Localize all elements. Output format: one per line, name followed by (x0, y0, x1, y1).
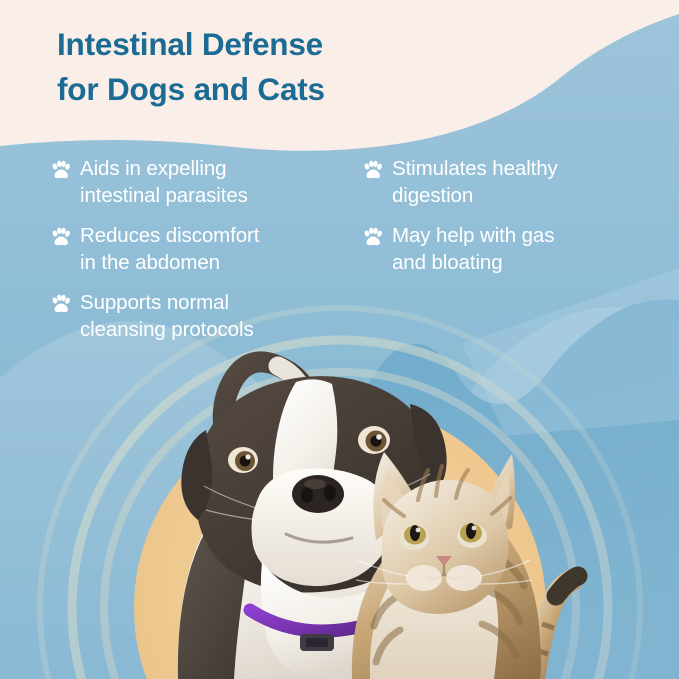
benefit-item: May help with gas and bloating (362, 222, 662, 276)
benefit-text: Stimulates healthy digestion (392, 155, 558, 209)
page-title: Intestinal Defense for Dogs and Cats (57, 22, 477, 111)
benefit-text: May help with gas and bloating (392, 222, 554, 276)
benefit-line: Stimulates healthy (392, 155, 558, 182)
paw-print-icon (50, 226, 72, 248)
benefit-item: Stimulates healthy digestion (362, 155, 662, 209)
collar-buckle-inner (306, 638, 328, 647)
cat-muzzle-left (406, 565, 442, 591)
benefit-text: Reduces discomfort in the abdomen (80, 222, 259, 276)
dog-nostril-left (301, 487, 313, 503)
dog-nose-highlight (304, 479, 326, 489)
benefit-line: in the abdomen (80, 249, 259, 276)
benefit-line: cleansing protocols (80, 316, 254, 343)
benefit-line: Supports normal (80, 289, 254, 316)
benefits-column-right: Stimulates healthy digestion May help wi… (362, 155, 662, 289)
benefit-line: May help with gas (392, 222, 554, 249)
benefit-line: and bloating (392, 249, 554, 276)
paw-print-icon (50, 159, 72, 181)
benefit-item: Aids in expelling intestinal parasites (50, 155, 350, 209)
paw-print-icon (50, 293, 72, 315)
product-infographic-poster: Intestinal Defense for Dogs and Cats Aid… (0, 0, 679, 679)
benefit-text: Supports normal cleansing protocols (80, 289, 254, 343)
title-line-2: for Dogs and Cats (57, 67, 477, 112)
benefit-line: Reduces discomfort (80, 222, 259, 249)
paw-print-icon (362, 159, 384, 181)
benefit-item: Reduces discomfort in the abdomen (50, 222, 350, 276)
benefit-line: digestion (392, 182, 558, 209)
benefit-line: Aids in expelling (80, 155, 248, 182)
title-line-1: Intestinal Defense (57, 22, 477, 67)
benefit-text: Aids in expelling intestinal parasites (80, 155, 248, 209)
benefit-line: intestinal parasites (80, 182, 248, 209)
dog-nostril-right (324, 485, 336, 501)
cat-muzzle-right (446, 565, 482, 591)
paw-print-icon (362, 226, 384, 248)
dog-eye-left (228, 447, 258, 473)
benefit-item: Supports normal cleansing protocols (50, 289, 350, 343)
benefits-column-left: Aids in expelling intestinal parasites R… (50, 155, 350, 356)
dog-eye-right (358, 426, 390, 454)
